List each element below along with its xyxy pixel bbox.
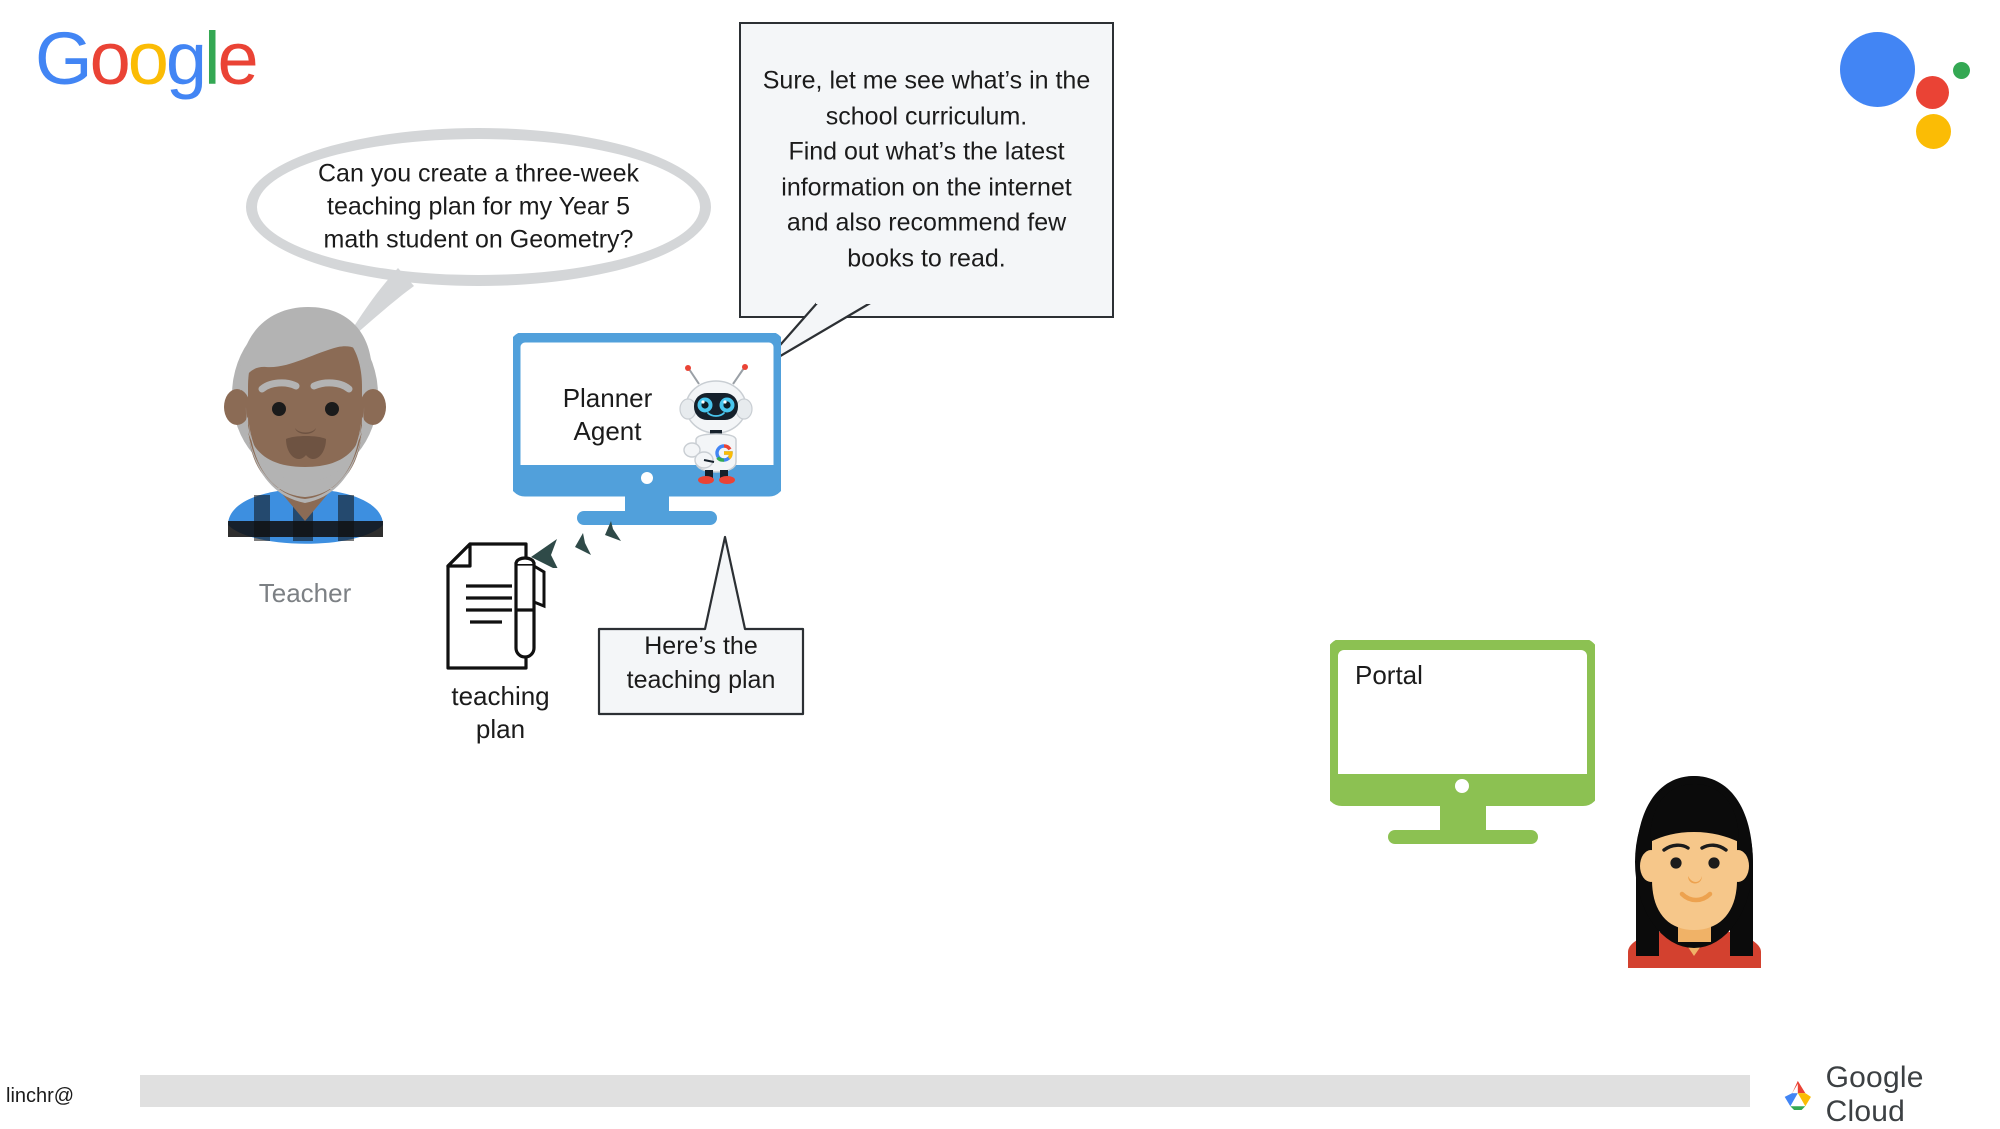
assistant-dot-yellow-icon [1916, 114, 1951, 149]
google-logo-letter-e: e [217, 22, 255, 96]
assistant-dot-green-icon [1953, 62, 1970, 79]
google-logo-letter-o2: o [128, 22, 166, 96]
google-assistant-icon [1840, 22, 1980, 142]
footer-progress-bar [140, 1075, 1750, 1107]
google-logo-letter-l: l [204, 22, 217, 96]
agent-speech-bubble: Sure, let me see what’s in the school cu… [739, 22, 1114, 318]
footer-username: linchr@ [6, 1085, 74, 1108]
assistant-dot-blue-icon [1840, 32, 1915, 107]
teacher-shirt-icon [228, 489, 383, 544]
google-cloud-secondary: Cloud [1826, 1095, 1905, 1128]
teaching-plan-callout-text: Here’s the teaching plan [597, 630, 805, 698]
portal-power-dot-icon [1455, 779, 1469, 793]
google-cloud-logo: Google Cloud [1780, 1077, 2000, 1113]
teacher-speech-bubble: Can you create a three-week teaching pla… [246, 128, 711, 286]
google-logo-letter-G: G [35, 22, 90, 96]
portal-neck-icon [1440, 800, 1486, 832]
agent-speech-text: Sure, let me see what’s in the school cu… [762, 64, 1092, 277]
monitor-stand-icon [577, 511, 717, 525]
teaching-plan-document-icon [440, 540, 560, 672]
google-cloud-primary: Google [1826, 1061, 1924, 1094]
google-logo-letter-o1: o [90, 22, 128, 96]
google-logo: Google [35, 22, 256, 96]
robot-icon [672, 362, 760, 484]
monitor-neck-icon [625, 491, 669, 513]
pen-icon [516, 558, 544, 657]
teacher-avatar [218, 295, 393, 560]
assistant-dot-red-icon [1916, 76, 1949, 109]
teaching-plan-label: teaching plan [398, 680, 603, 747]
portal-label: Portal [1355, 660, 1423, 691]
google-cloud-wordmark: Google Cloud [1826, 1061, 2000, 1129]
planner-agent-label: Planner Agent [545, 382, 670, 449]
portal-stand-icon [1388, 830, 1538, 844]
teacher-label: Teacher [180, 578, 430, 609]
monitor-power-dot-icon [641, 472, 653, 484]
teacher-speech-text: Can you create a three-week teaching pla… [289, 158, 669, 257]
google-cloud-mark-icon [1780, 1078, 1816, 1112]
student-avatar [1622, 770, 1767, 970]
google-logo-letter-g: g [166, 22, 204, 96]
